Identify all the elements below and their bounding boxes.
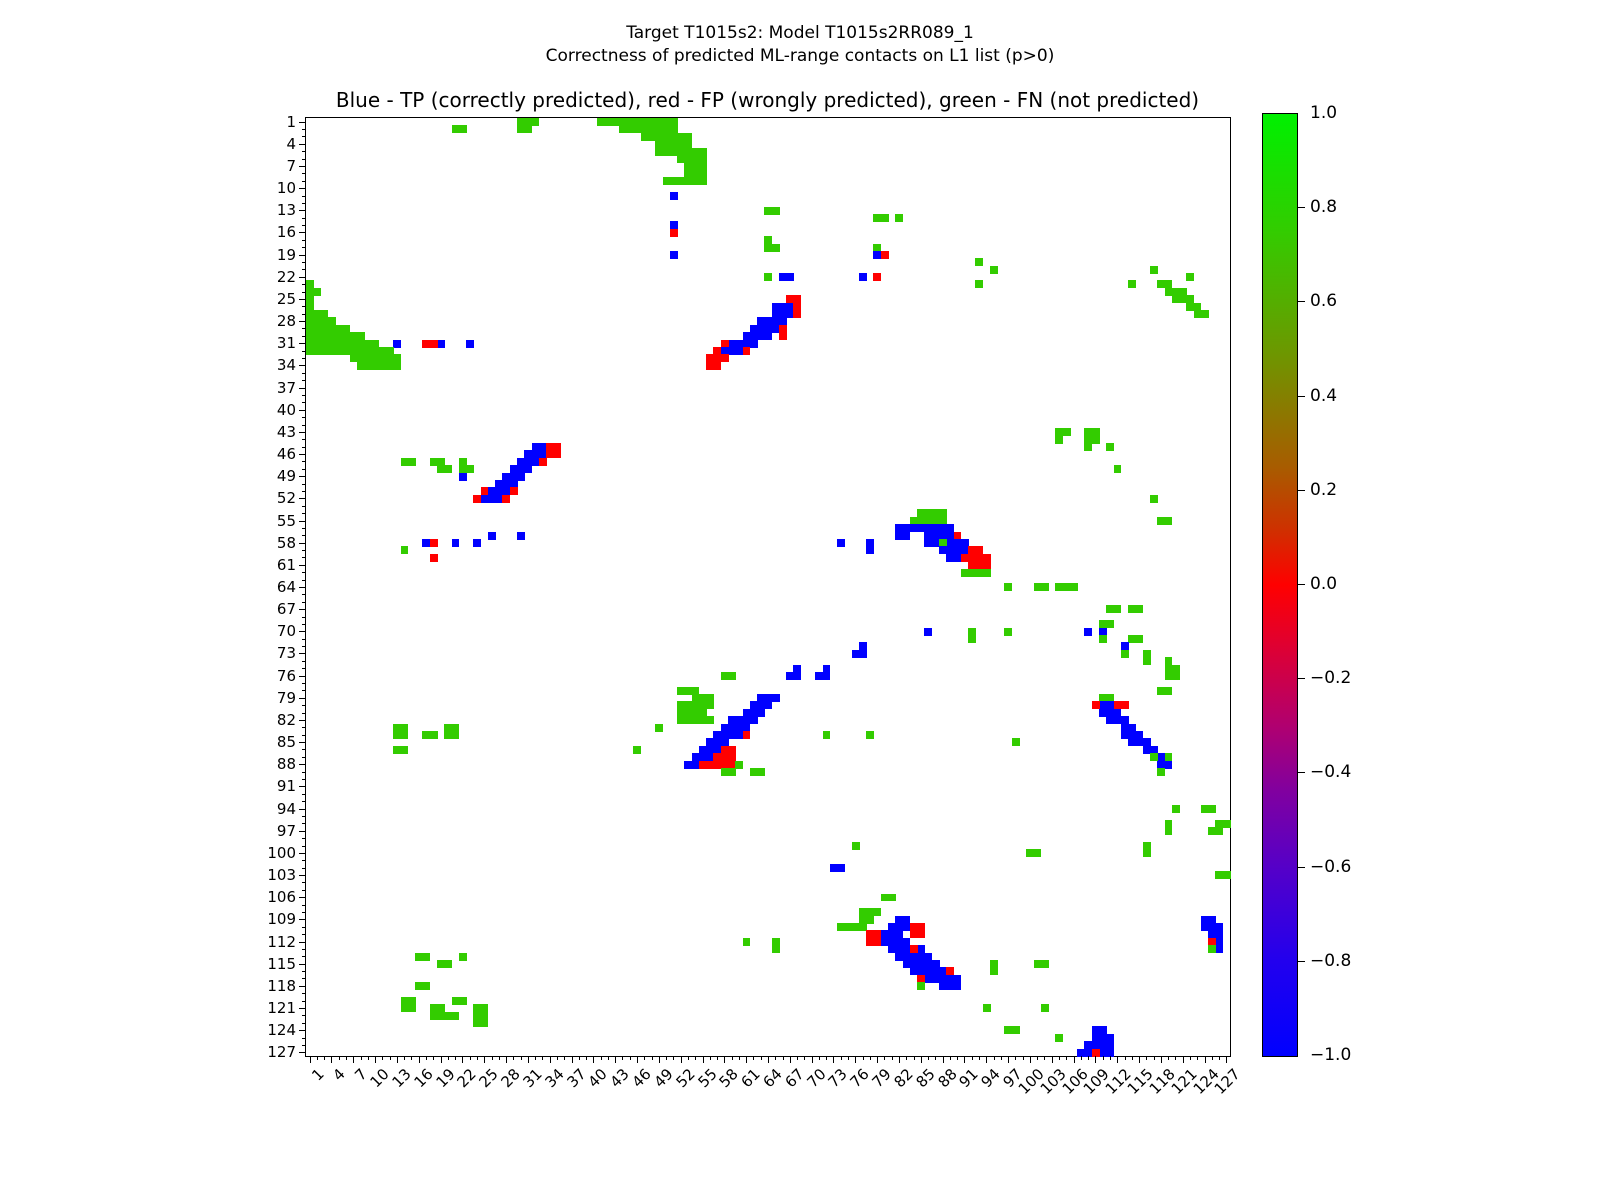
colorbar-tick-label: −1.0: [1310, 1045, 1351, 1065]
contact-cell-fn: [1063, 428, 1071, 436]
x-axis-tick: [419, 1056, 420, 1063]
y-axis-tick: [299, 786, 306, 787]
colorbar-tick: [1298, 396, 1305, 397]
y-axis-tick: [302, 905, 306, 906]
x-axis-tick: [899, 1056, 900, 1063]
y-axis-tick: [302, 949, 306, 950]
y-axis-tick: [302, 801, 306, 802]
y-axis-tick: [299, 255, 306, 256]
x-axis-tick: [703, 1056, 704, 1063]
y-axis-tick: [299, 299, 306, 300]
y-axis-tick-label: 10: [277, 179, 296, 197]
contact-cell-fp: [430, 340, 438, 348]
contact-cell-fn: [1041, 583, 1049, 591]
y-axis-tick-label: 85: [277, 733, 296, 751]
y-axis-tick: [299, 321, 306, 322]
contact-cell-fn: [895, 214, 903, 222]
y-axis-tick: [302, 506, 306, 507]
y-axis-tick-label: 28: [277, 312, 296, 330]
y-axis-tick: [302, 484, 306, 485]
y-axis-tick: [302, 469, 306, 470]
contact-cell-fn: [983, 569, 991, 577]
y-axis-tick: [302, 358, 306, 359]
y-axis-tick-label: 7: [286, 157, 296, 175]
x-axis-tick: [921, 1056, 922, 1063]
x-axis-tick: [732, 1056, 733, 1060]
y-axis-tick: [302, 772, 306, 773]
colorbar-tick-label: 1.0: [1310, 103, 1337, 123]
x-axis-tick: [397, 1056, 398, 1063]
contact-cell-tp: [437, 340, 445, 348]
y-axis-tick-label: 46: [277, 445, 296, 463]
x-axis-tick: [1088, 1056, 1089, 1060]
colorbar-tick-label: −0.6: [1310, 857, 1351, 877]
contact-cell-tp: [1084, 628, 1092, 636]
contact-cell-fn: [1208, 805, 1216, 813]
contact-cell-fn: [401, 731, 409, 739]
y-axis-tick: [299, 365, 306, 366]
contact-cell-tp: [764, 701, 772, 709]
y-axis-tick: [302, 336, 306, 337]
contact-cell-fp: [502, 495, 510, 503]
x-axis-tick: [1117, 1056, 1118, 1063]
x-axis-tick: [484, 1056, 485, 1063]
colorbar-tick: [1298, 678, 1305, 679]
contact-cell-tp: [670, 192, 678, 200]
y-axis-tick: [299, 1052, 306, 1053]
y-axis-tick: [302, 868, 306, 869]
contact-cell-fn: [1128, 280, 1136, 288]
colorbar-tick-label: −0.4: [1310, 762, 1351, 782]
contact-cell-fn: [706, 701, 714, 709]
contact-cell-fn: [524, 125, 532, 133]
x-axis-tick: [615, 1056, 616, 1063]
x-axis-tick: [492, 1056, 493, 1060]
x-axis-tick: [804, 1056, 805, 1060]
contact-cell-tp: [903, 532, 911, 540]
y-axis-tick: [302, 971, 306, 972]
x-axis-tick: [673, 1056, 674, 1060]
y-axis-tick-label: 94: [277, 800, 296, 818]
contact-map-plot[interactable]: 1144771010131316161919222225252828313134…: [305, 117, 1231, 1057]
y-axis-tick: [299, 410, 306, 411]
contact-cell-fn: [393, 362, 401, 370]
contact-cell-fn: [866, 916, 874, 924]
y-axis-tick-label: 40: [277, 401, 296, 419]
x-axis-tick: [1081, 1056, 1082, 1060]
y-axis-tick: [299, 631, 306, 632]
y-axis-tick: [302, 136, 306, 137]
contact-cell-fn: [1157, 768, 1165, 776]
contact-cell-tp: [793, 672, 801, 680]
y-axis-tick: [302, 646, 306, 647]
x-axis-tick: [986, 1056, 987, 1063]
colorbar-tick: [1298, 867, 1305, 868]
x-axis-tick: [1110, 1056, 1111, 1060]
contact-cell-fn: [757, 768, 765, 776]
y-axis-tick: [299, 720, 306, 721]
x-axis-tick: [1008, 1056, 1009, 1063]
y-axis-tick-label: 52: [277, 489, 296, 507]
y-axis-tick-label: 109: [267, 910, 296, 928]
x-axis-tick: [1219, 1056, 1220, 1060]
x-axis-tick: [368, 1056, 369, 1060]
y-axis-tick: [299, 565, 306, 566]
contact-cell-fn: [1106, 443, 1114, 451]
x-axis-tick: [964, 1056, 965, 1063]
contact-cell-fn: [430, 731, 438, 739]
y-axis-tick: [302, 816, 306, 817]
contact-cell-tp: [837, 539, 845, 547]
x-axis-tick: [310, 1056, 311, 1063]
y-axis-tick-label: 64: [277, 578, 296, 596]
contact-cell-tp: [670, 251, 678, 259]
y-axis-tick-label: 118: [267, 977, 296, 995]
contact-cell-fn: [743, 938, 751, 946]
x-axis-tick: [724, 1056, 725, 1063]
x-axis-tick: [331, 1056, 332, 1063]
y-axis-tick: [302, 624, 306, 625]
contact-cell-fp: [713, 362, 721, 370]
contact-cell-fn: [459, 953, 467, 961]
contact-cell-tp: [954, 554, 962, 562]
y-axis-tick: [302, 173, 306, 174]
x-axis-tick: [892, 1056, 893, 1060]
x-axis-tick: [855, 1056, 856, 1063]
y-axis-tick: [302, 262, 306, 263]
contact-cell-fn: [706, 716, 714, 724]
y-axis-tick: [299, 742, 306, 743]
y-axis-tick: [302, 218, 306, 219]
contact-cell-tp: [954, 982, 962, 990]
y-axis-tick: [299, 188, 306, 189]
y-axis-tick: [302, 838, 306, 839]
contact-cell-fn: [452, 1012, 460, 1020]
y-axis-tick: [302, 557, 306, 558]
y-axis-tick: [302, 794, 306, 795]
y-axis-tick: [302, 461, 306, 462]
contact-cell-fn: [1055, 436, 1063, 444]
x-axis-tick: [906, 1056, 907, 1060]
x-axis-tick: [812, 1056, 813, 1063]
x-axis-tick: [601, 1056, 602, 1060]
x-axis-tick: [935, 1056, 936, 1060]
colorbar-tick-label: 0.0: [1310, 574, 1337, 594]
contact-cell-fn: [1099, 635, 1107, 643]
contact-cell-tp: [452, 539, 460, 547]
y-axis-tick: [299, 144, 306, 145]
x-axis-tick: [550, 1056, 551, 1063]
y-axis-tick: [302, 417, 306, 418]
x-axis-tick: [783, 1056, 784, 1060]
y-axis-tick-label: 19: [277, 246, 296, 264]
x-axis-tick: [1037, 1056, 1038, 1060]
contact-cell-fn: [444, 960, 452, 968]
y-axis-tick-label: 1: [286, 113, 296, 131]
x-axis-tick: [1044, 1056, 1045, 1060]
contact-cell-tp: [393, 340, 401, 348]
x-axis-tick: [943, 1056, 944, 1063]
x-axis-tick: [1190, 1056, 1191, 1060]
contact-cell-fn: [1041, 1004, 1049, 1012]
y-axis-tick-label: 79: [277, 689, 296, 707]
x-axis-tick-label: 1: [308, 1065, 327, 1084]
contact-cell-fp: [873, 938, 881, 946]
colorbar-tick-label: 0.2: [1310, 480, 1337, 500]
contact-cell-fn: [1012, 1026, 1020, 1034]
contact-cell-fn: [1143, 657, 1151, 665]
y-axis-tick-label: 16: [277, 223, 296, 241]
y-axis-tick-label: 61: [277, 556, 296, 574]
y-axis-tick: [302, 129, 306, 130]
x-axis-tick: [361, 1056, 362, 1060]
y-axis-tick-label: 4: [286, 135, 296, 153]
y-axis-tick: [302, 683, 306, 684]
contact-cell-fn: [1165, 827, 1173, 835]
x-axis-tick: [1161, 1056, 1162, 1063]
x-axis-tick: [1197, 1056, 1198, 1060]
contact-cell-fn: [401, 546, 409, 554]
contact-cell-tp: [524, 465, 532, 473]
contact-cell-fn: [1165, 517, 1173, 525]
contact-cell-fn: [917, 982, 925, 990]
y-axis-tick: [299, 1008, 306, 1009]
contact-cell-fn: [968, 635, 976, 643]
contact-cell-fn: [422, 953, 430, 961]
x-axis-tick: [1001, 1056, 1002, 1060]
y-axis-tick-label: 73: [277, 644, 296, 662]
colorbar-tick: [1298, 961, 1305, 962]
contact-cell-fn: [1034, 849, 1042, 857]
y-axis-tick-label: 82: [277, 711, 296, 729]
colorbar-tick-label: 0.8: [1310, 197, 1337, 217]
x-axis-tick: [317, 1056, 318, 1060]
contact-cell-fp: [793, 310, 801, 318]
y-axis-tick: [302, 993, 306, 994]
y-axis-tick-label: 67: [277, 600, 296, 618]
x-axis-tick: [717, 1056, 718, 1060]
colorbar-tick: [1298, 584, 1305, 585]
x-axis-tick: [506, 1056, 507, 1063]
contact-cell-fp: [881, 251, 889, 259]
x-axis-tick: [914, 1056, 915, 1060]
x-axis-tick: [652, 1056, 653, 1060]
y-axis-tick-label: 25: [277, 290, 296, 308]
x-axis-tick: [448, 1056, 449, 1060]
y-axis-tick: [302, 978, 306, 979]
colorbar-tick-label: −0.8: [1310, 951, 1351, 971]
y-axis-tick: [299, 653, 306, 654]
y-axis-tick: [302, 594, 306, 595]
x-axis-tick: [775, 1056, 776, 1060]
contact-cells-layer: [306, 118, 1230, 1056]
contact-cell-tp: [924, 628, 932, 636]
x-axis-tick: [622, 1056, 623, 1060]
y-axis-tick: [299, 388, 306, 389]
figure-title: Target T1015s2: Model T1015s2RR089_1 Cor…: [0, 22, 1600, 68]
contact-cell-fp: [743, 731, 751, 739]
y-axis-tick: [302, 713, 306, 714]
contact-cell-tp: [1165, 761, 1173, 769]
contact-cell-fn: [888, 894, 896, 902]
y-axis-tick-label: 58: [277, 534, 296, 552]
y-axis-tick-label: 103: [267, 866, 296, 884]
x-axis-tick: [586, 1056, 587, 1060]
y-axis-tick: [302, 1023, 306, 1024]
y-axis-tick: [302, 882, 306, 883]
contact-cell-fn: [1223, 871, 1231, 879]
contact-cell-fn: [1055, 1034, 1063, 1042]
contact-cell-tp: [488, 532, 496, 540]
contact-cell-fn: [764, 273, 772, 281]
x-axis-tick: [411, 1056, 412, 1060]
contact-cell-fn: [1208, 945, 1216, 953]
contact-cell-fn: [1135, 605, 1143, 613]
y-axis-tick-label: 22: [277, 268, 296, 286]
y-axis-tick: [302, 373, 306, 374]
y-axis-tick-label: 88: [277, 755, 296, 773]
contact-cell-fp: [721, 354, 729, 362]
y-axis-tick: [299, 698, 306, 699]
contact-cell-fn: [1186, 273, 1194, 281]
y-axis-tick: [302, 328, 306, 329]
contact-cell-fn: [481, 1019, 489, 1027]
y-axis-tick: [302, 292, 306, 293]
y-axis-tick: [302, 934, 306, 935]
x-axis-tick: [1015, 1056, 1016, 1060]
y-axis-tick: [302, 269, 306, 270]
contact-cell-fn: [1150, 266, 1158, 274]
x-axis-tick: [841, 1056, 842, 1060]
contact-cell-fn: [459, 997, 467, 1005]
x-axis-tick: [441, 1056, 442, 1063]
colorbar[interactable]: 1.00.80.60.40.20.0−0.2−0.4−0.6−0.8−1.0: [1262, 113, 1298, 1057]
y-axis-tick: [302, 572, 306, 573]
colorbar-tick-label: 0.6: [1310, 291, 1337, 311]
x-axis-tick: [877, 1056, 878, 1063]
contact-cell-fn: [1106, 620, 1114, 628]
y-axis-tick: [299, 343, 306, 344]
colorbar-tick: [1298, 490, 1305, 491]
x-axis-tick: [826, 1056, 827, 1060]
contact-cell-fn: [772, 244, 780, 252]
contact-cell-fn: [990, 967, 998, 975]
contact-cell-fn: [633, 746, 641, 754]
y-axis-tick: [302, 779, 306, 780]
contact-cell-fp: [430, 554, 438, 562]
y-axis-tick-label: 55: [277, 512, 296, 530]
y-axis-tick: [299, 498, 306, 499]
x-axis-tick: [426, 1056, 427, 1060]
y-axis-tick: [302, 956, 306, 957]
contact-cell-fp: [473, 495, 481, 503]
y-axis-tick-label: 112: [267, 933, 296, 951]
x-axis-tick: [346, 1056, 347, 1060]
x-axis-tick: [1205, 1056, 1206, 1063]
contact-cell-tp: [859, 650, 867, 658]
contact-cell-fn: [772, 207, 780, 215]
x-axis-tick: [535, 1056, 536, 1060]
contact-cell-tp: [473, 539, 481, 547]
contact-cell-fn: [401, 746, 409, 754]
colorbar-tick: [1298, 207, 1305, 208]
x-axis-tick: [659, 1056, 660, 1063]
x-axis-tick: [1132, 1056, 1133, 1060]
contact-cell-fn: [655, 724, 663, 732]
contact-cell-tp: [1215, 945, 1223, 953]
y-axis-tick: [302, 181, 306, 182]
x-axis-tick: [761, 1056, 762, 1060]
contact-cell-tp: [786, 273, 794, 281]
contact-cell-tp: [859, 273, 867, 281]
y-axis-tick: [302, 860, 306, 861]
y-axis-tick: [299, 210, 306, 211]
y-axis-tick-label: 49: [277, 467, 296, 485]
contact-cell-fn: [728, 672, 736, 680]
contact-cell-tp: [772, 694, 780, 702]
x-axis-tick: [1074, 1056, 1075, 1063]
y-axis-tick: [302, 927, 306, 928]
contact-cell-fn: [1114, 605, 1122, 613]
colorbar-tick: [1298, 772, 1305, 773]
y-axis-tick: [299, 587, 306, 588]
contact-cell-fn: [990, 266, 998, 274]
colorbar-tick-label: 0.4: [1310, 386, 1337, 406]
y-axis-tick-label: 115: [267, 955, 296, 973]
contact-cell-fp: [510, 487, 518, 495]
y-axis-tick: [302, 1038, 306, 1039]
x-axis-tick: [572, 1056, 573, 1063]
y-axis-tick: [302, 306, 306, 307]
y-axis-tick: [299, 232, 306, 233]
y-axis-tick: [302, 284, 306, 285]
contact-cell-fp: [873, 273, 881, 281]
x-axis-tick: [1059, 1056, 1060, 1060]
contact-cell-fn: [452, 731, 460, 739]
y-axis-tick: [302, 151, 306, 152]
y-axis-tick: [302, 550, 306, 551]
x-axis-tick: [528, 1056, 529, 1063]
x-axis-tick: [390, 1056, 391, 1060]
contact-cell-fp: [539, 458, 547, 466]
contact-cell-fn: [975, 280, 983, 288]
y-axis-tick: [299, 432, 306, 433]
contact-cell-fp: [779, 332, 787, 340]
y-axis-tick: [302, 690, 306, 691]
contact-cell-fn: [823, 731, 831, 739]
x-axis-tick: [863, 1056, 864, 1060]
y-axis-tick-label: 43: [277, 423, 296, 441]
x-axis-tick: [1154, 1056, 1155, 1060]
y-axis-tick: [302, 395, 306, 396]
contact-cell-fn: [1215, 827, 1223, 835]
x-axis-tick: [1052, 1056, 1053, 1063]
x-axis-tick: [790, 1056, 791, 1063]
contact-cell-fp: [553, 450, 561, 458]
contact-cell-tp: [750, 340, 758, 348]
y-axis-tick-label: 121: [267, 999, 296, 1017]
x-axis-tick: [477, 1056, 478, 1060]
contact-cell-tp: [517, 532, 525, 540]
x-axis-tick: [382, 1056, 383, 1060]
y-axis-tick: [302, 247, 306, 248]
x-axis-tick: [833, 1056, 834, 1063]
contact-cell-tp: [757, 709, 765, 717]
x-axis-tick: [746, 1056, 747, 1063]
contact-cell-fn: [1201, 310, 1209, 318]
x-axis-tick: [324, 1056, 325, 1060]
x-axis-tick: [1095, 1056, 1096, 1063]
